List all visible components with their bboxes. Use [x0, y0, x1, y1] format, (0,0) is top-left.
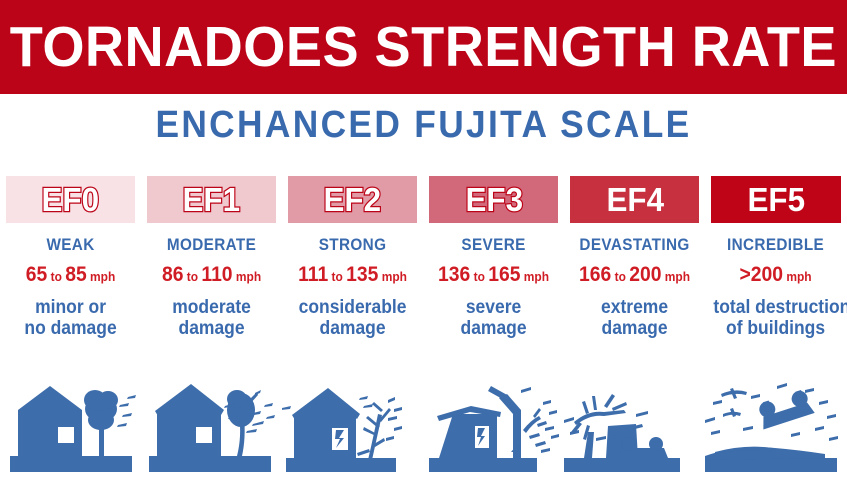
- ef5-category: INCREDIBLE: [715, 235, 837, 255]
- ef3-speed-from: 136: [438, 263, 470, 286]
- ef2-damage-line2: damage: [291, 318, 415, 339]
- ef3-bar-label: EF3: [465, 183, 523, 216]
- ef3-speed-to-word: to: [471, 269, 489, 284]
- illustration-ef4: [564, 372, 705, 478]
- ef-column-ef0: EF0 WEAK 65 to 85 mph minor or no damage: [0, 176, 141, 340]
- ef1-speed-unit: mph: [233, 269, 262, 284]
- ef1-damage: moderate damage: [149, 297, 273, 340]
- ef5-damage-line2: of buildings: [714, 318, 838, 339]
- ef-scale-row: EF0 WEAK 65 to 85 mph minor or no damage…: [0, 176, 847, 340]
- ef5-bar-label: EF5: [747, 183, 805, 216]
- illustration-ef2: [282, 372, 423, 478]
- flying-car-flattened-debris-icon: [705, 372, 846, 478]
- ef4-bar-label: EF4: [606, 183, 664, 216]
- ef2-speed: 111 to 135 mph: [291, 264, 415, 285]
- house-cracked-window-bare-tree-icon: [282, 372, 423, 478]
- ef0-speed: 65 to 85 mph: [8, 264, 132, 285]
- ef5-speed: >200 mph: [714, 264, 838, 285]
- ef-column-ef4: EF4 DEVASTATING 166 to 200 mph extreme d…: [564, 176, 705, 340]
- collapsed-house-torn-roof-icon: [423, 372, 564, 478]
- ef1-bar-label: EF1: [183, 183, 241, 216]
- ef0-bar: EF0: [6, 176, 135, 223]
- ef3-category: SEVERE: [433, 235, 555, 255]
- ef4-category: DEVASTATING: [574, 235, 696, 255]
- ef2-speed-from: 111: [298, 263, 328, 286]
- ef2-speed-until: 135: [346, 263, 378, 286]
- ef1-bar: EF1: [147, 176, 276, 223]
- ef-column-ef2: EF2 STRONG 111 to 135 mph considerable d…: [282, 176, 423, 340]
- ef5-damage: total destruction of buildings: [714, 297, 838, 340]
- ef3-damage-line2: damage: [432, 318, 556, 339]
- ef3-speed-unit: mph: [521, 269, 550, 284]
- ef-column-ef1: EF1 MODERATE 86 to 110 mph moderate dama…: [141, 176, 282, 340]
- ef0-speed-unit: mph: [87, 269, 116, 284]
- ef4-speed-to-word: to: [612, 269, 630, 284]
- ef1-damage-line1: moderate: [149, 297, 273, 318]
- ef0-speed-from: 65: [26, 263, 47, 286]
- ef5-speed-unit: mph: [783, 269, 812, 284]
- ef0-speed-to-word: to: [47, 269, 65, 284]
- ef2-damage: considerable damage: [291, 297, 415, 340]
- ef1-speed-from: 86: [162, 263, 183, 286]
- ef0-damage: minor or no damage: [8, 297, 132, 340]
- illustration-ef5: [705, 372, 846, 478]
- ef3-damage-line1: severe: [432, 297, 556, 318]
- ef5-bar: EF5: [711, 176, 840, 223]
- ef4-bar: EF4: [570, 176, 699, 223]
- page-title: TORNADOES STRENGTH RATE: [10, 19, 837, 76]
- rubble-fallen-tree-overturned-car-icon: [564, 372, 705, 478]
- title-banner: TORNADOES STRENGTH RATE: [0, 0, 847, 94]
- intact-house-with-tree-icon: [0, 372, 141, 478]
- ef4-speed-until: 200: [630, 263, 662, 286]
- ef4-damage: extreme damage: [573, 297, 697, 340]
- ef4-speed: 166 to 200 mph: [573, 264, 697, 285]
- illustration-ef3: [423, 372, 564, 478]
- ef2-speed-to-word: to: [328, 269, 346, 284]
- ef5-speed-from: >200: [740, 263, 784, 286]
- illustration-row: [0, 372, 847, 478]
- ef2-bar-label: EF2: [324, 183, 382, 216]
- ef3-bar: EF3: [429, 176, 558, 223]
- ef1-damage-line2: damage: [149, 318, 273, 339]
- house-damaged-roof-bending-tree-icon: [141, 372, 282, 478]
- subtitle: ENCHANCED FUJITA SCALE: [30, 104, 818, 147]
- ef1-speed-until: 110: [201, 263, 232, 286]
- ef0-category: WEAK: [10, 235, 132, 255]
- ef2-speed-unit: mph: [379, 269, 408, 284]
- ef0-speed-until: 85: [65, 263, 86, 286]
- illustration-ef1: [141, 372, 282, 478]
- ef4-damage-line1: extreme: [573, 297, 697, 318]
- ef5-damage-line1: total destruction: [714, 297, 838, 318]
- ef4-speed-from: 166: [579, 263, 611, 286]
- ef3-speed: 136 to 165 mph: [432, 264, 556, 285]
- ef2-category: STRONG: [292, 235, 414, 255]
- ef-column-ef3: EF3 SEVERE 136 to 165 mph severe damage: [423, 176, 564, 340]
- ef0-damage-line2: no damage: [8, 318, 132, 339]
- ef1-speed: 86 to 110 mph: [149, 264, 273, 285]
- ef4-speed-unit: mph: [662, 269, 691, 284]
- ef3-damage: severe damage: [432, 297, 556, 340]
- ef0-damage-line1: minor or: [8, 297, 132, 318]
- ef4-damage-line2: damage: [573, 318, 697, 339]
- illustration-ef0: [0, 372, 141, 478]
- ef-column-ef5: EF5 INCREDIBLE >200 mph total destructio…: [705, 176, 846, 340]
- ef1-category: MODERATE: [151, 235, 273, 255]
- ef1-speed-to-word: to: [184, 269, 202, 284]
- ef2-damage-line1: considerable: [291, 297, 415, 318]
- ef2-bar: EF2: [288, 176, 417, 223]
- ef0-bar-label: EF0: [42, 183, 100, 216]
- ef3-speed-until: 165: [489, 263, 521, 286]
